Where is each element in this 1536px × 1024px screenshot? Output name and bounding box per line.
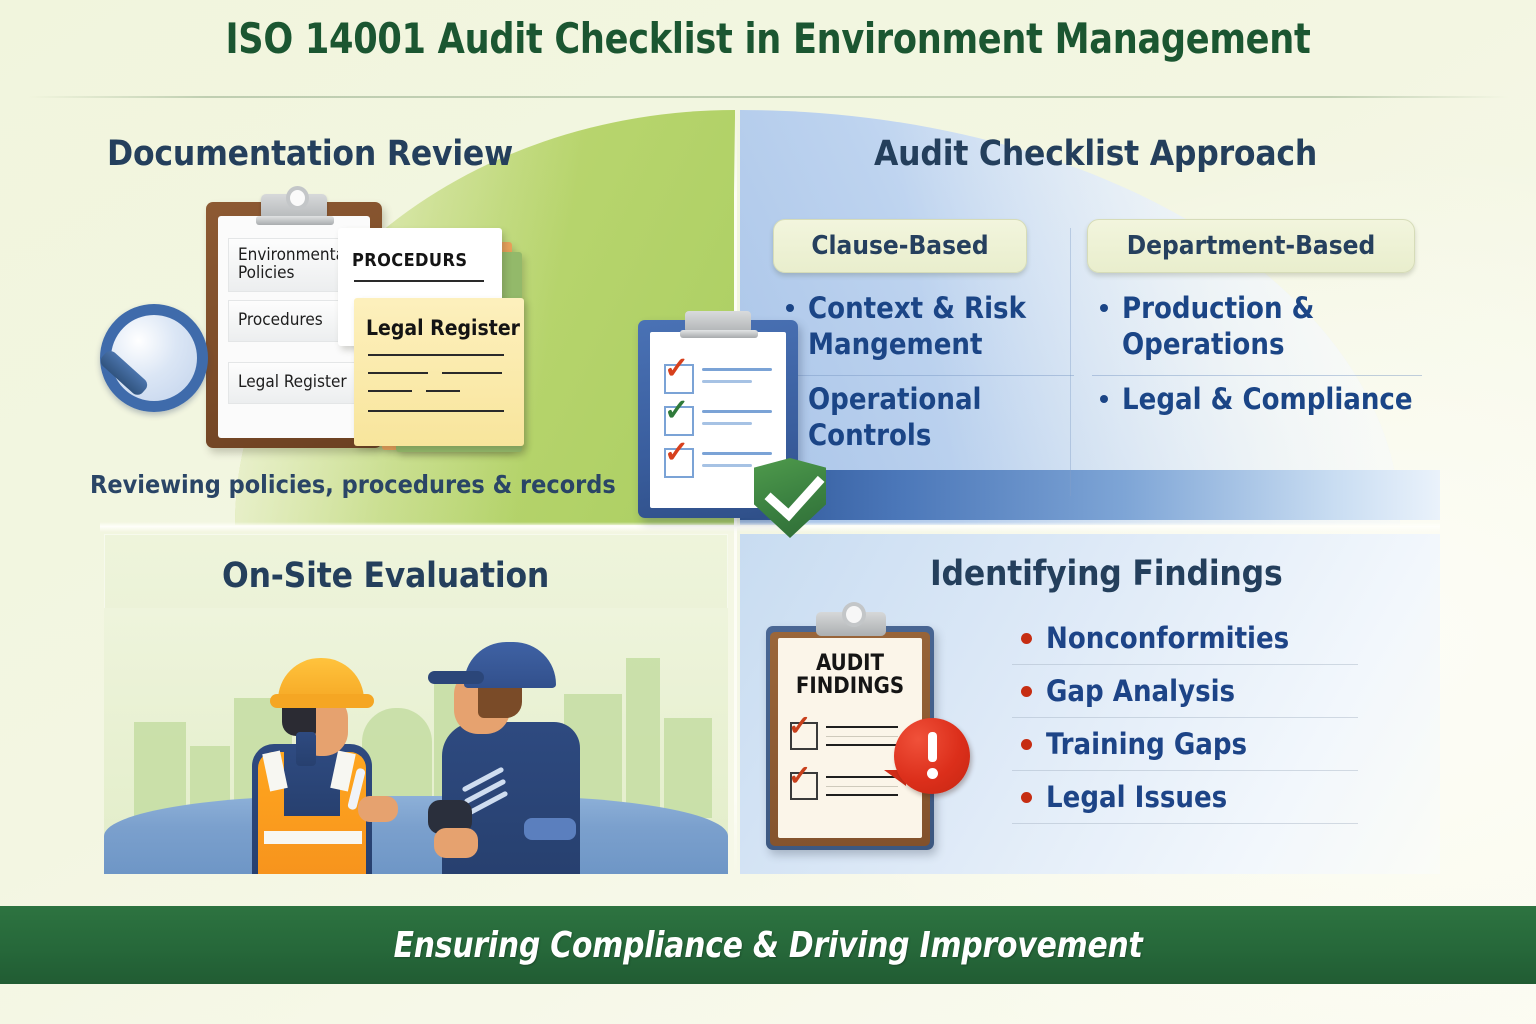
alert-exclamation-icon [894,718,970,794]
header-rule [28,96,1508,98]
hard-hat-brim [270,694,374,708]
on-site-evaluation-illustration [104,608,728,874]
pill-department-based[interactable]: Department-Based [1087,219,1415,273]
building-silhouette [664,718,712,818]
list-item: Legal & Compliance [1092,375,1422,430]
legal-register-sheet-label: Legal Register [366,316,520,340]
footer-banner: Ensuring Compliance & Driving Improvemen… [0,906,1536,984]
sheet-line [368,372,428,374]
inspector-hand [434,828,478,858]
exclamation-bar [928,732,937,762]
check-icon-green: ✓ [664,396,689,426]
shield-checkmark [765,460,825,521]
sheet-line [368,390,412,392]
heading-audit-checklist-approach: Audit Checklist Approach [874,134,1317,174]
clipboard-clip-bar [680,330,758,338]
list-item: Production & Operations [1092,285,1422,375]
audit-findings-label: AUDIT FINDINGS [778,652,922,699]
check-icon-red: ✓ [788,762,811,790]
vest-stripe [264,831,362,844]
page-title: ISO 14001 Audit Checklist in Environment… [54,14,1482,63]
documentation-review-caption: Reviewing policies, procedures & records [90,470,616,499]
pill-clause-based[interactable]: Clause-Based [773,219,1027,273]
rule-line [826,794,898,796]
audit-findings-illustration: AUDIT FINDINGS ✓ ✓ [748,600,998,872]
heading-identifying-findings: Identifying Findings [930,554,1283,594]
list-item: Nonconformities [1012,612,1358,665]
department-based-list: Production & Operations Legal & Complian… [1092,285,1422,430]
rule-line [826,744,898,746]
documentation-review-illustration: Environmental Policies Procedures Legal … [96,186,566,466]
heading-documentation-review: Documentation Review [107,134,513,174]
header: ISO 14001 Audit Checklist in Environment… [0,0,1536,96]
sheet-line [426,390,460,392]
footer-tagline: Ensuring Compliance & Driving Improvemen… [393,925,1142,966]
rule-line [702,368,772,371]
check-icon-red: ✓ [788,712,811,740]
rule-line [702,464,752,467]
worker-with-helmet [222,644,422,874]
sheet-line [368,410,504,412]
cuff [524,818,576,840]
building-silhouette [134,722,186,818]
rule-line [702,452,772,455]
center-checklist-illustration: ✓ ✓ ✓ [630,306,840,536]
check-icon-red: ✓ [664,354,689,384]
check-icon-red: ✓ [664,438,689,468]
necktie [296,732,316,766]
list-item: Training Gaps [1012,718,1358,771]
procedures-sheet-label: PROCEDURS [352,250,467,271]
findings-list: Nonconformities Gap Analysis Training Ga… [1012,612,1358,824]
sheet-line [354,280,484,282]
building-silhouette [626,658,660,818]
clipboard-clip-ring-icon [842,602,866,627]
exclamation-dot [927,768,938,779]
rule-line [702,380,752,383]
list-item: Legal Issues [1012,771,1358,824]
rule-line [702,410,772,413]
rule-line [702,422,752,425]
rule-line [826,736,898,737]
rule-line [826,786,898,787]
audit-findings-line2: FINDINGS [796,674,904,699]
sheet-line [442,372,502,374]
inspector-with-cap [404,634,624,874]
rule-line [826,726,898,728]
clipboard-clip-ring-icon [286,186,309,210]
clipboard-clip-bar [256,216,334,225]
list-item: Gap Analysis [1012,665,1358,718]
blue-accent-band [740,470,1440,520]
worker-hand [358,796,398,822]
audit-findings-line1: AUDIT [816,651,884,676]
cap-brim [428,671,484,684]
heading-on-site-evaluation: On-Site Evaluation [222,556,549,596]
infographic-canvas: ISO 14001 Audit Checklist in Environment… [0,0,1536,1024]
sheet-line [368,354,504,356]
shield-check-icon [754,458,826,538]
